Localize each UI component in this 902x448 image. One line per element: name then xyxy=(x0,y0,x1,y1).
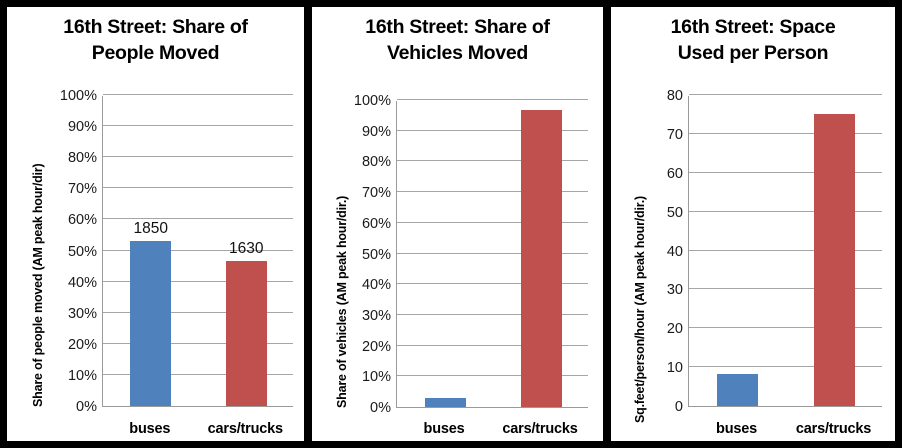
panel-1-title-line-2: People Moved xyxy=(92,42,220,64)
panel-3-title-line-2: Used per Person xyxy=(678,42,828,64)
y-tick-label: 20% xyxy=(68,338,97,353)
y-tick-label: 0 xyxy=(675,400,683,415)
x-tick-label-buses: buses xyxy=(716,421,757,437)
panel-3-title: 16th Street: Space Used per Person xyxy=(611,15,895,67)
panel-2-title-line-1: 16th Street: Share of xyxy=(365,16,549,38)
bar-cars-trucks xyxy=(814,114,855,406)
y-tick-label: 90% xyxy=(68,120,97,135)
panel-3-plot-area xyxy=(688,96,882,407)
panel-2-title-line-2: Vehicles Moved xyxy=(387,42,528,64)
gridline xyxy=(397,99,588,100)
panel-2-plot-area xyxy=(396,101,588,408)
y-tick-label: 100% xyxy=(354,94,391,109)
panel-2-title: 16th Street: Share of Vehicles Moved xyxy=(312,15,603,67)
y-tick-label: 50% xyxy=(68,244,97,259)
panel-share-of-vehicles-moved: 16th Street: Share of Vehicles Moved Sha… xyxy=(308,0,607,448)
multi-panel-bar-chart-figure: 16th Street: Share of People Moved Share… xyxy=(0,0,902,448)
x-tick-label-buses: buses xyxy=(424,421,465,437)
bar-buses xyxy=(130,241,171,406)
y-tick-label: 20 xyxy=(667,322,683,337)
y-tick-label: 30% xyxy=(68,306,97,321)
y-tick-label: 60 xyxy=(667,167,683,182)
x-tick-label-cars-trucks: cars/trucks xyxy=(502,421,577,437)
y-tick-label: 0% xyxy=(76,400,97,415)
y-tick-label: 70 xyxy=(667,128,683,143)
panel-1-plot-area: 18501630 xyxy=(102,96,293,407)
y-tick-label: 80% xyxy=(68,151,97,166)
panel-3-y-tick-labels: 01020304050607080 xyxy=(631,96,683,407)
y-tick-label: 10% xyxy=(362,370,391,385)
bar-cars-trucks xyxy=(521,110,562,407)
y-tick-label: 40 xyxy=(667,244,683,259)
y-tick-label: 80 xyxy=(667,89,683,104)
gridline xyxy=(103,156,293,157)
gridline xyxy=(103,94,293,95)
bar-value-label: 1850 xyxy=(134,220,168,238)
y-tick-label: 70% xyxy=(362,186,391,201)
bar-cars-trucks xyxy=(226,261,267,406)
x-tick-label-buses: buses xyxy=(129,421,170,437)
y-tick-label: 10% xyxy=(68,369,97,384)
y-tick-label: 60% xyxy=(362,217,391,232)
y-tick-label: 0% xyxy=(370,401,391,416)
y-tick-label: 40% xyxy=(362,278,391,293)
y-tick-label: 90% xyxy=(362,124,391,139)
gridline xyxy=(103,187,293,188)
panel-1-title-line-1: 16th Street: Share of xyxy=(63,16,247,38)
y-tick-label: 40% xyxy=(68,275,97,290)
gridline xyxy=(689,94,882,95)
panel-share-of-people-moved: 16th Street: Share of People Moved Share… xyxy=(0,0,308,448)
panel-3-title-line-1: 16th Street: Space xyxy=(671,16,836,38)
y-tick-label: 20% xyxy=(362,339,391,354)
panel-2-y-tick-labels: 0%10%20%30%40%50%60%70%80%90%100% xyxy=(331,101,391,408)
bar-buses xyxy=(717,374,758,406)
gridline xyxy=(103,125,293,126)
x-tick-label-cars-trucks: cars/trucks xyxy=(796,421,871,437)
y-tick-label: 60% xyxy=(68,213,97,228)
y-tick-label: 30% xyxy=(362,309,391,324)
bar-buses xyxy=(425,398,466,407)
y-tick-label: 100% xyxy=(60,89,97,104)
panel-space-used-per-person: 16th Street: Space Used per Person Sq.fe… xyxy=(607,0,902,448)
bar-value-label: 1630 xyxy=(229,240,263,258)
y-tick-label: 10 xyxy=(667,361,683,376)
y-tick-label: 30 xyxy=(667,283,683,298)
y-tick-label: 80% xyxy=(362,155,391,170)
gridline xyxy=(103,218,293,219)
y-tick-label: 50 xyxy=(667,205,683,220)
y-tick-label: 70% xyxy=(68,182,97,197)
panel-1-title: 16th Street: Share of People Moved xyxy=(7,15,304,67)
panel-1-y-tick-labels: 0%10%20%30%40%50%60%70%80%90%100% xyxy=(37,96,97,407)
x-tick-label-cars-trucks: cars/trucks xyxy=(208,421,283,437)
y-tick-label: 50% xyxy=(362,247,391,262)
